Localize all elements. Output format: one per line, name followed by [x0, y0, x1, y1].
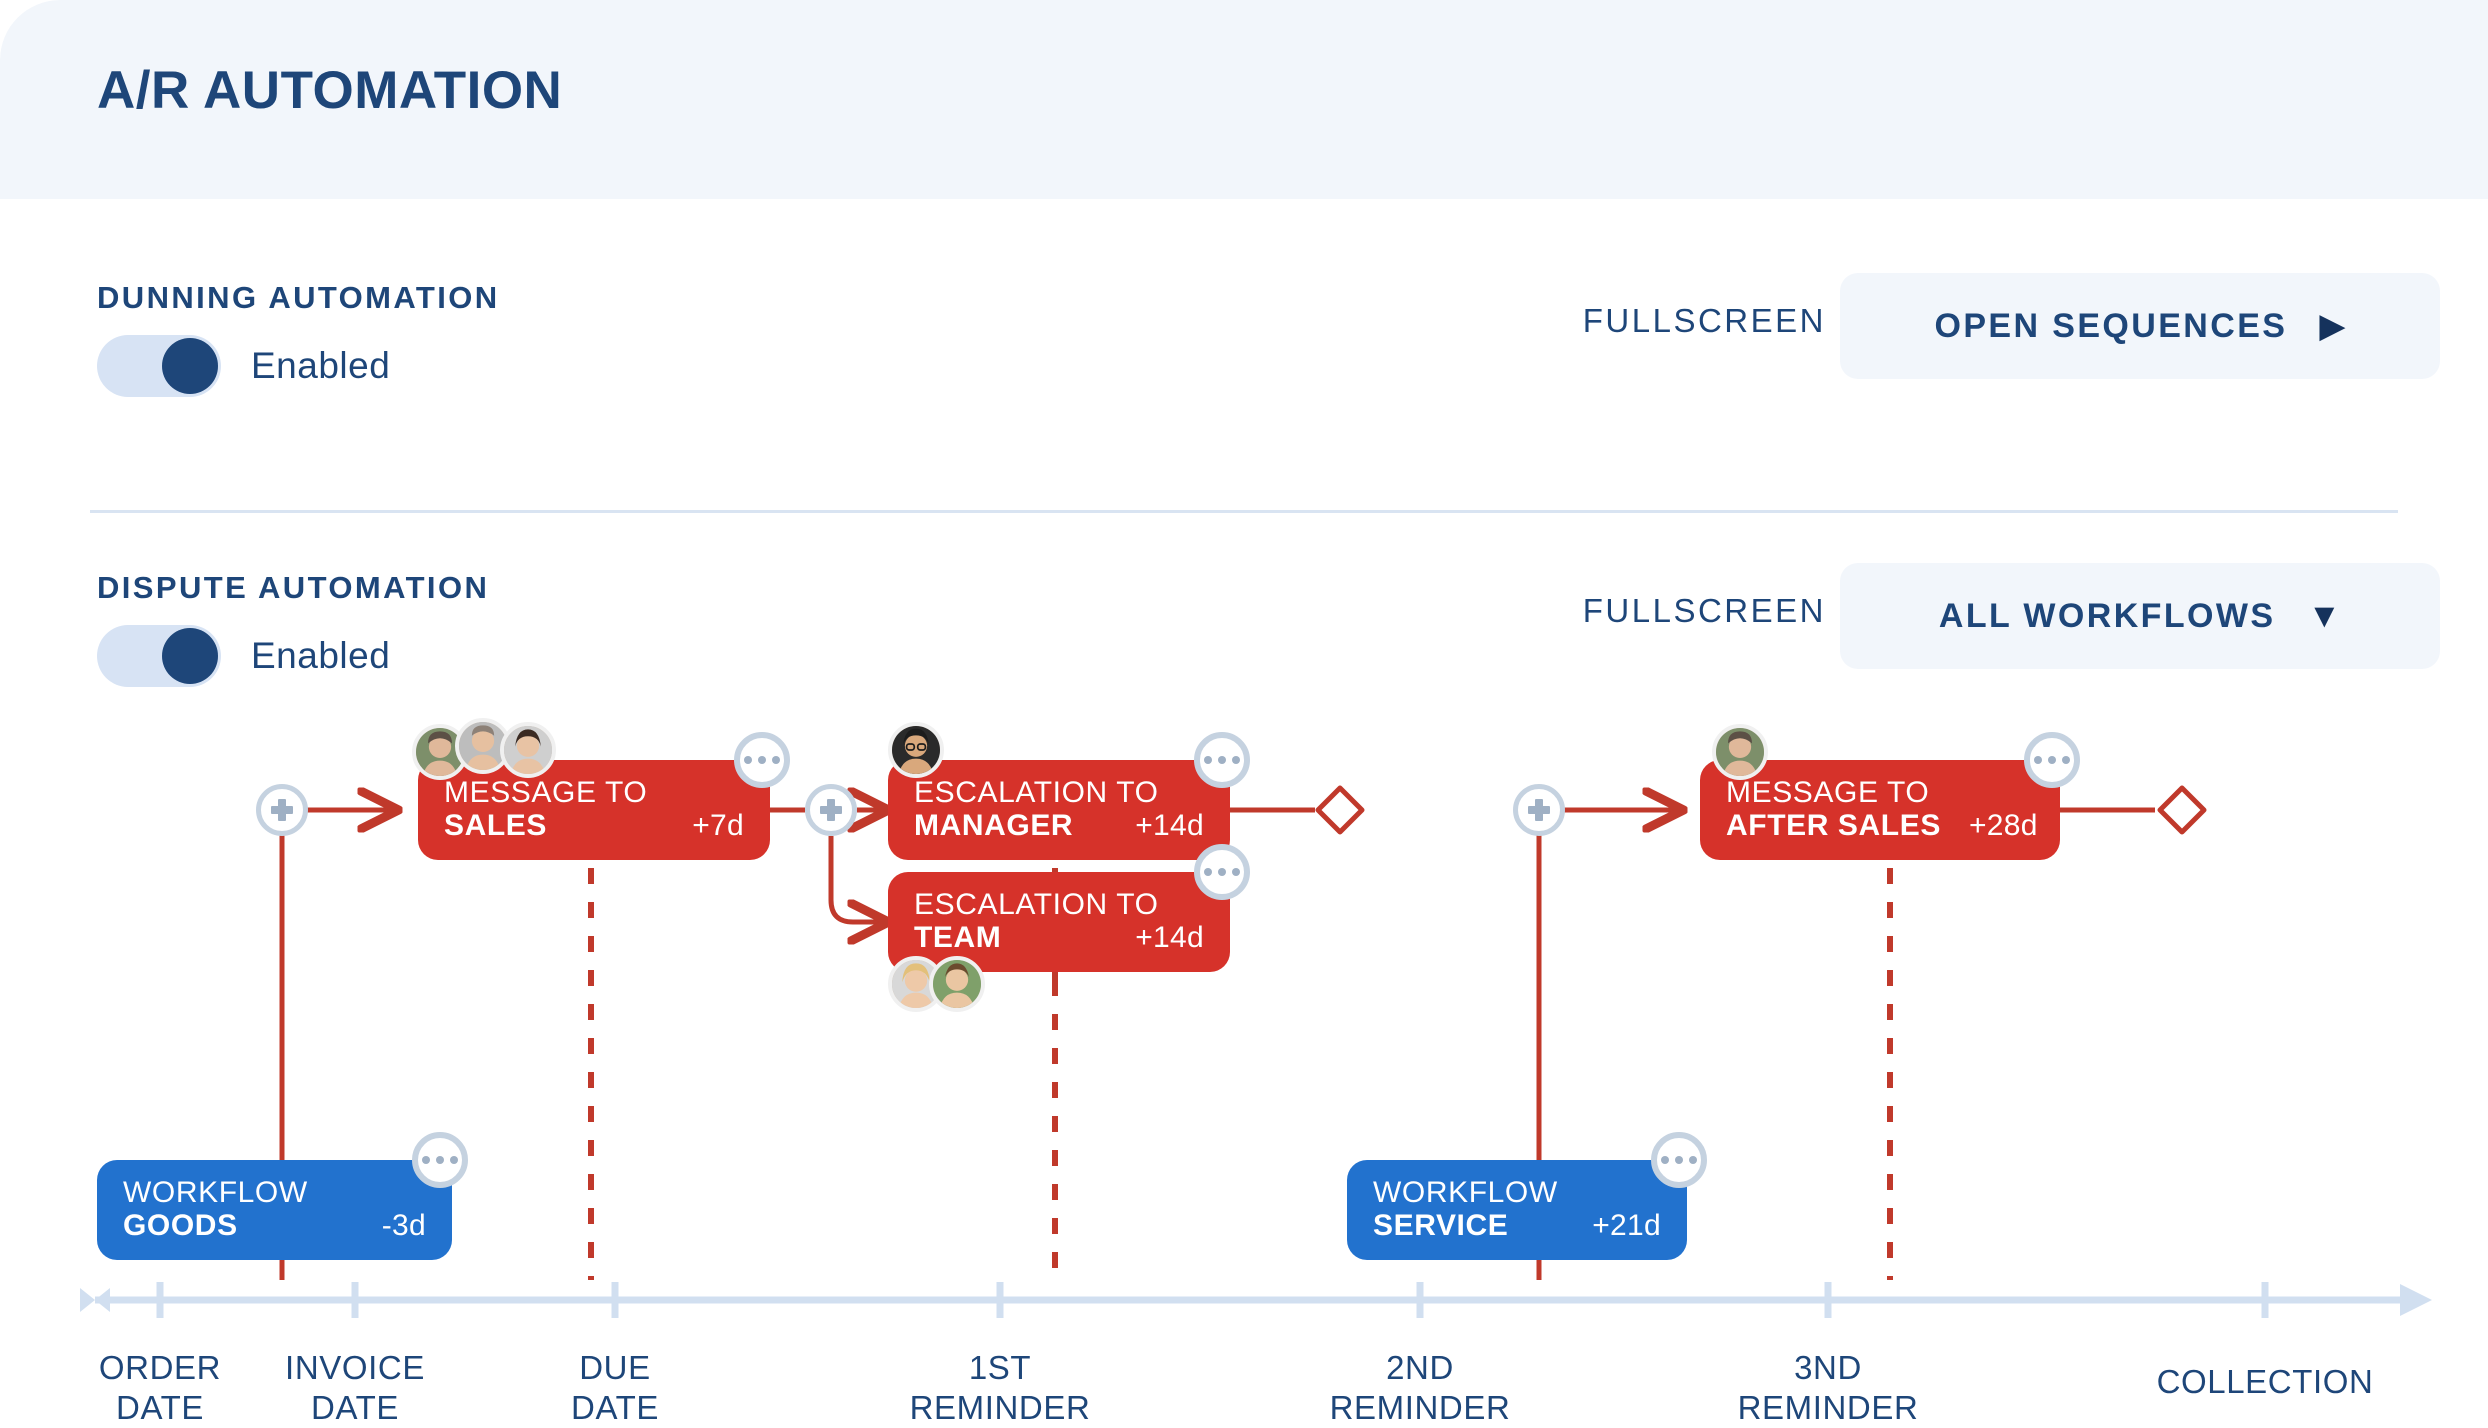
node-line1: MESSAGE TO [444, 777, 744, 809]
dot [1232, 756, 1240, 764]
timeline-axis [0, 1270, 2488, 1330]
timeline-label-due-date: DUE DATE [571, 1348, 659, 1428]
add-step-button-service[interactable] [1513, 784, 1565, 836]
dot [1204, 756, 1212, 764]
toggle-knob [162, 628, 218, 684]
node-line2-row: AFTER SALES +28d [1726, 809, 2034, 844]
node-delay-badge: +28d [1941, 809, 2038, 843]
node-line2: AFTER SALES [1726, 809, 1941, 844]
node-line1: ESCALATION TO [914, 889, 1204, 921]
node-delay-badge: -3d [354, 1209, 426, 1243]
open-sequences-label: OPEN SEQUENCES [1934, 307, 2287, 346]
section-title-dunning: DUNNING AUTOMATION [97, 280, 500, 316]
node-menu-escalation-manager[interactable] [1194, 732, 1250, 788]
chevron-down-icon: ▼ [2307, 599, 2341, 633]
avatar[interactable] [500, 722, 556, 778]
section-dunning-automation: DUNNING AUTOMATION Enabled FULLSCREEN OP… [0, 280, 2488, 480]
dunning-enabled-toggle[interactable] [97, 335, 221, 397]
node-menu-escalation-team[interactable] [1194, 844, 1250, 900]
add-step-button-sales[interactable] [805, 784, 857, 836]
node-delay-badge: +7d [664, 809, 744, 843]
section-divider [90, 510, 2398, 513]
dot [1689, 1156, 1697, 1164]
node-line1: MESSAGE TO [1726, 777, 2034, 809]
node-delay-badge: +14d [1107, 809, 1204, 843]
ar-automation-panel: A/R AUTOMATION DUNNING AUTOMATION Enable… [0, 0, 2488, 1428]
node-line2: SERVICE [1373, 1209, 1508, 1244]
node-line2: GOODS [123, 1209, 238, 1244]
dot [772, 756, 780, 764]
node-menu-message-after-sales[interactable] [2024, 732, 2080, 788]
node-line2: SALES [444, 809, 547, 844]
dot [744, 756, 752, 764]
add-step-button-goods[interactable] [256, 784, 308, 836]
node-line2-row: TEAM +14d [914, 921, 1204, 956]
dot [1204, 868, 1212, 876]
dot [450, 1156, 458, 1164]
node-message-sales[interactable]: MESSAGE TO SALES +7d [418, 760, 770, 860]
node-line2: TEAM [914, 921, 1001, 956]
page-title: A/R AUTOMATION [97, 60, 562, 121]
dot [436, 1156, 444, 1164]
node-menu-workflow-service[interactable] [1651, 1132, 1707, 1188]
dot [1232, 868, 1240, 876]
timeline-label-collection: COLLECTION [2157, 1362, 2374, 1402]
dot [1661, 1156, 1669, 1164]
play-triangle-icon: ▶ [2319, 309, 2345, 343]
node-line2: MANAGER [914, 809, 1073, 844]
node-line2-row: SALES +7d [444, 809, 744, 844]
dot [2048, 756, 2056, 764]
dispute-toggle-row: Enabled [97, 625, 390, 687]
node-line2-row: SERVICE +21d [1373, 1209, 1661, 1244]
node-delay-badge: +14d [1107, 921, 1204, 955]
dot [758, 756, 766, 764]
node-escalation-team[interactable]: ESCALATION TO TEAM +14d [888, 872, 1230, 972]
node-menu-workflow-goods[interactable] [412, 1132, 468, 1188]
node-menu-message-sales[interactable] [734, 732, 790, 788]
dunning-fullscreen-label[interactable]: FULLSCREEN [1583, 302, 1826, 340]
node-workflow-goods[interactable]: WORKFLOW GOODS -3d [97, 1160, 452, 1260]
timeline: ORDER DATE INVOICE DATE DUE DATE 1ST REM… [0, 1270, 2488, 1428]
section-dispute-automation: DISPUTE AUTOMATION Enabled FULLSCREEN AL… [0, 570, 2488, 770]
timeline-label-order-date: ORDER DATE [99, 1348, 221, 1428]
open-sequences-button[interactable]: OPEN SEQUENCES ▶ [1840, 273, 2440, 379]
dispute-fullscreen-label[interactable]: FULLSCREEN [1583, 592, 1826, 630]
node-escalation-manager[interactable]: ESCALATION TO MANAGER +14d [888, 760, 1230, 860]
dot [422, 1156, 430, 1164]
all-workflows-dropdown[interactable]: ALL WORKFLOWS ▼ [1840, 563, 2440, 669]
dot [2062, 756, 2070, 764]
dispute-toggle-label: Enabled [251, 635, 390, 677]
node-workflow-service[interactable]: WORKFLOW SERVICE +21d [1347, 1160, 1687, 1260]
avatar[interactable] [888, 722, 944, 778]
toggle-knob [162, 338, 218, 394]
dot [1218, 868, 1226, 876]
node-line1: WORKFLOW [123, 1177, 426, 1209]
page-header: A/R AUTOMATION [0, 0, 2488, 199]
node-line2-row: MANAGER +14d [914, 809, 1204, 844]
avatar[interactable] [1712, 724, 1768, 780]
dispute-enabled-toggle[interactable] [97, 625, 221, 687]
avatar[interactable] [929, 956, 985, 1012]
timeline-label-3nd-reminder: 3ND REMINDER [1738, 1348, 1919, 1428]
node-delay-badge: +21d [1564, 1209, 1661, 1243]
dunning-toggle-label: Enabled [251, 345, 390, 387]
all-workflows-label: ALL WORKFLOWS [1939, 597, 2276, 636]
node-line1: WORKFLOW [1373, 1177, 1661, 1209]
timeline-label-2nd-reminder: 2ND REMINDER [1330, 1348, 1511, 1428]
node-line2-row: GOODS -3d [123, 1209, 426, 1244]
timeline-label-invoice-date: INVOICE DATE [285, 1348, 425, 1428]
dot [1218, 756, 1226, 764]
timeline-label-1st-reminder: 1ST REMINDER [910, 1348, 1091, 1428]
dot [2034, 756, 2042, 764]
node-line1: ESCALATION TO [914, 777, 1204, 809]
dunning-toggle-row: Enabled [97, 335, 390, 397]
dot [1675, 1156, 1683, 1164]
section-title-dispute: DISPUTE AUTOMATION [97, 570, 489, 606]
